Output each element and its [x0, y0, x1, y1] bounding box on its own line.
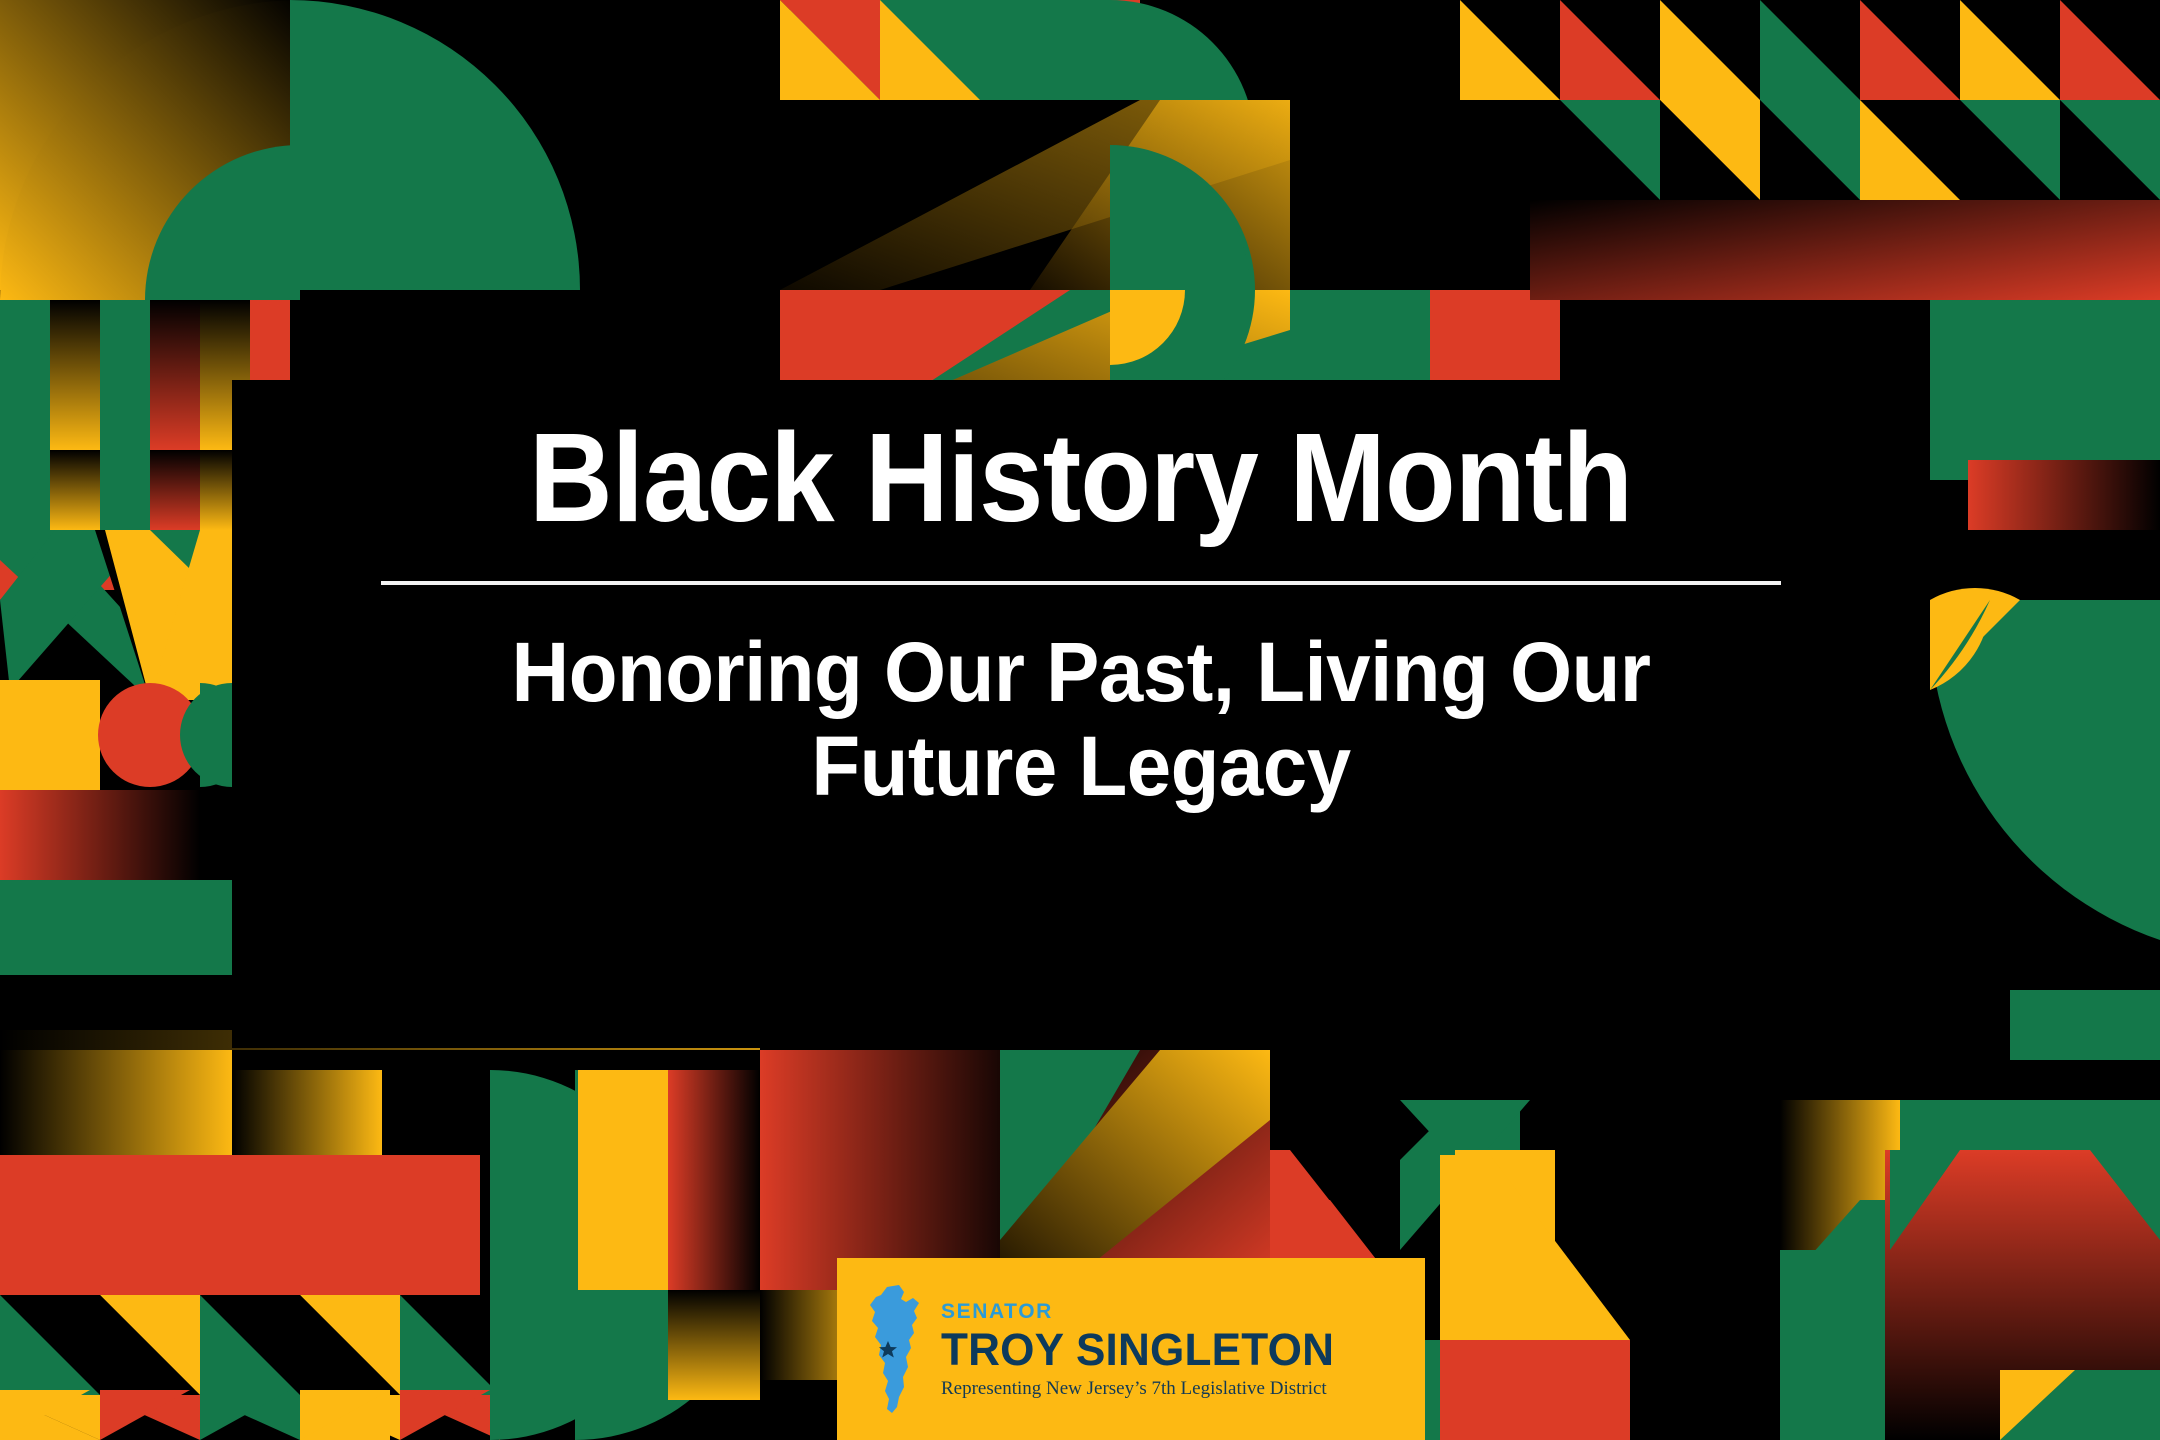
logo-tagline: Representing New Jersey’s 7th Legislativ…: [941, 1379, 1342, 1398]
senator-logo-lockup: SENATOR TROY SINGLETON Representing New …: [837, 1258, 1425, 1440]
logo-text-block: SENATOR TROY SINGLETON Representing New …: [941, 1301, 1342, 1398]
black-history-month-graphic: Black History Month Honoring Our Past, L…: [0, 0, 2160, 1440]
new-jersey-state-outline-icon: [865, 1285, 923, 1413]
page-title: Black History Month: [529, 380, 1632, 543]
logo-name: TROY SINGLETON: [941, 1327, 1334, 1372]
page-subtitle: Honoring Our Past, Living Our Future Leg…: [473, 585, 1689, 815]
headline-panel: Black History Month Honoring Our Past, L…: [232, 380, 1930, 1048]
logo-eyebrow: SENATOR: [941, 1301, 1342, 1322]
